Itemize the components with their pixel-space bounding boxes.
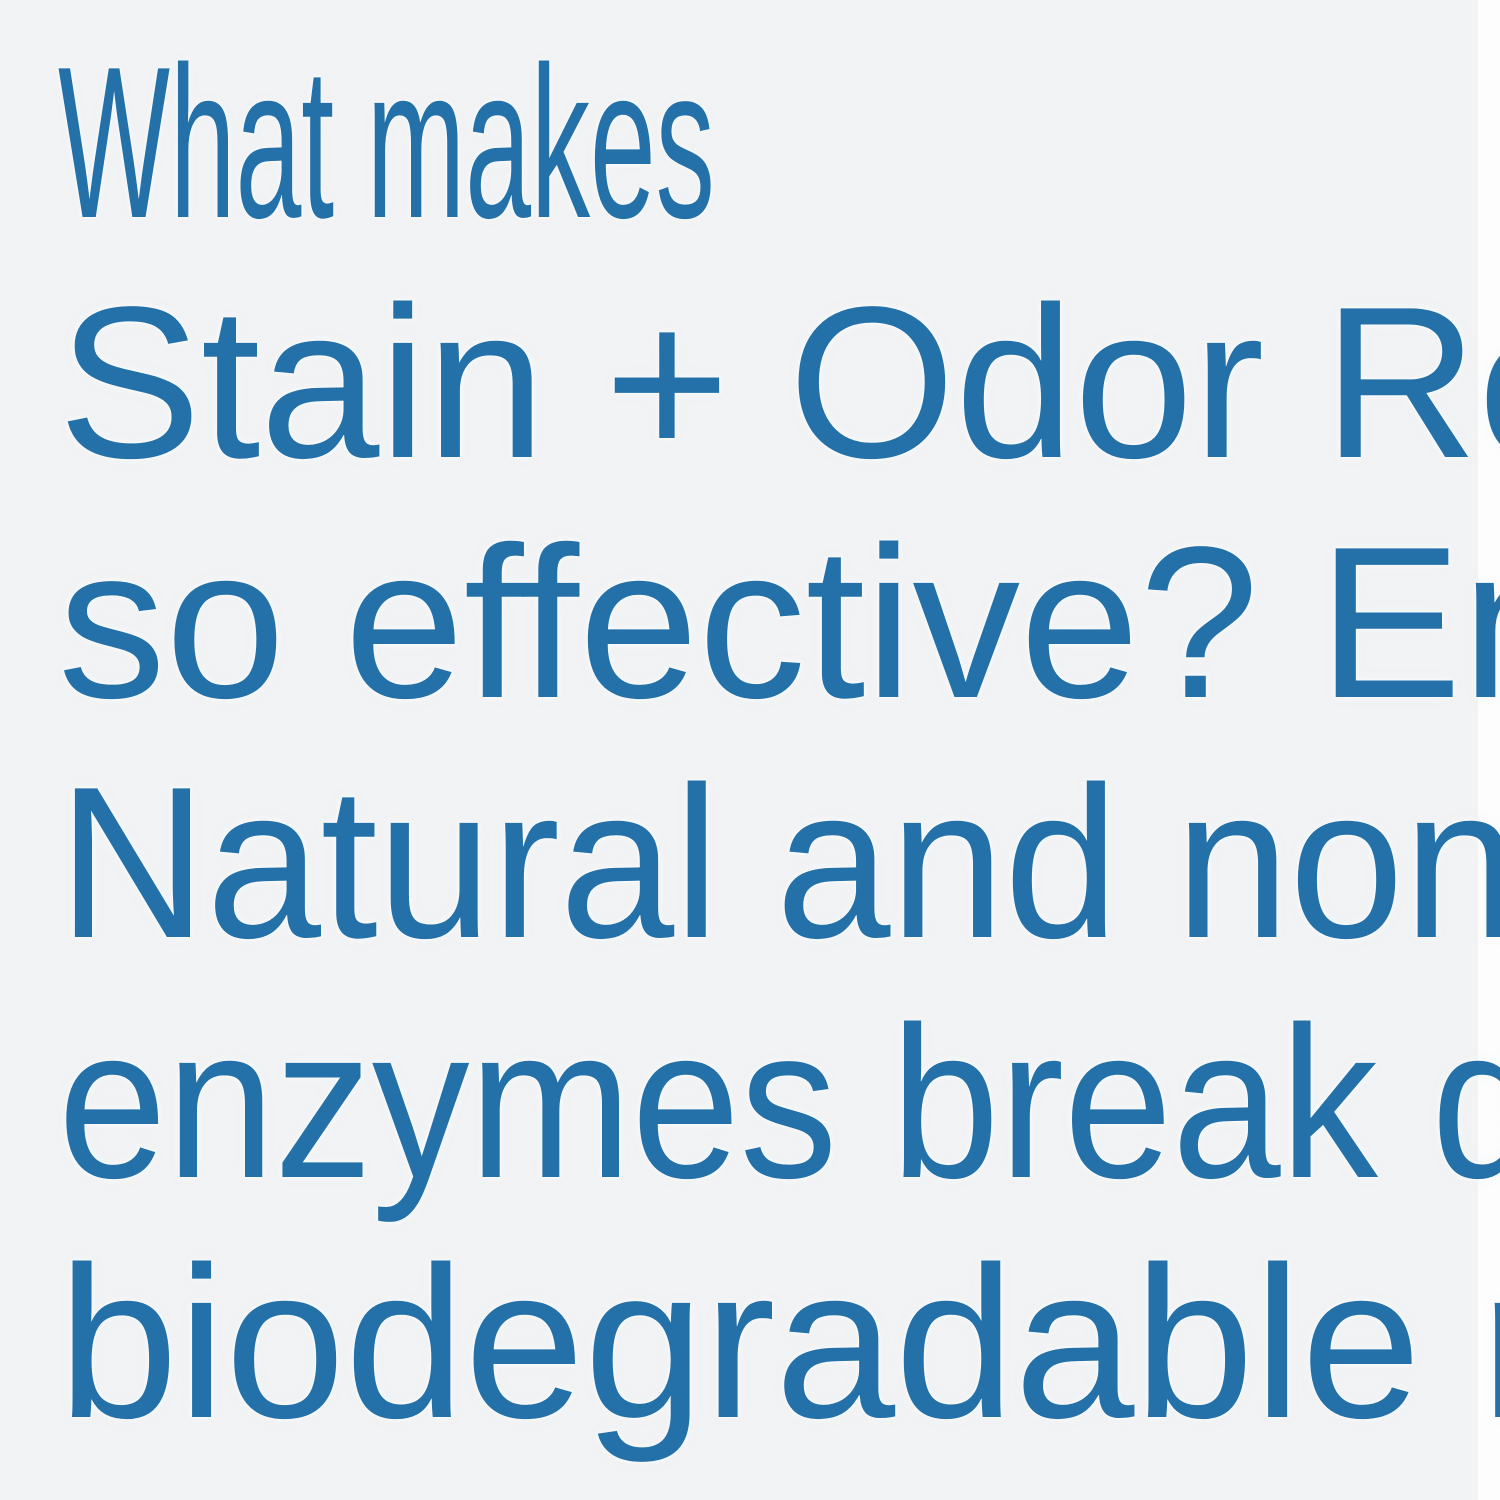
headline-line-4: Natural and non-toxic xyxy=(58,742,1413,982)
headline-line-2: Stain + Odor Remover xyxy=(58,262,1470,502)
headline-line-5: enzymes break down xyxy=(58,982,1343,1222)
page-title: What makes Stain + Odor Remover so effec… xyxy=(58,22,1478,1462)
product-claim-poster: What makes Stain + Odor Remover so effec… xyxy=(0,0,1500,1500)
headline-line-3: so effective? Enzymes! xyxy=(58,502,1476,742)
headline-line-6: biodegradable messes xyxy=(58,1222,1478,1462)
headline-line-1: What makes xyxy=(58,22,838,262)
